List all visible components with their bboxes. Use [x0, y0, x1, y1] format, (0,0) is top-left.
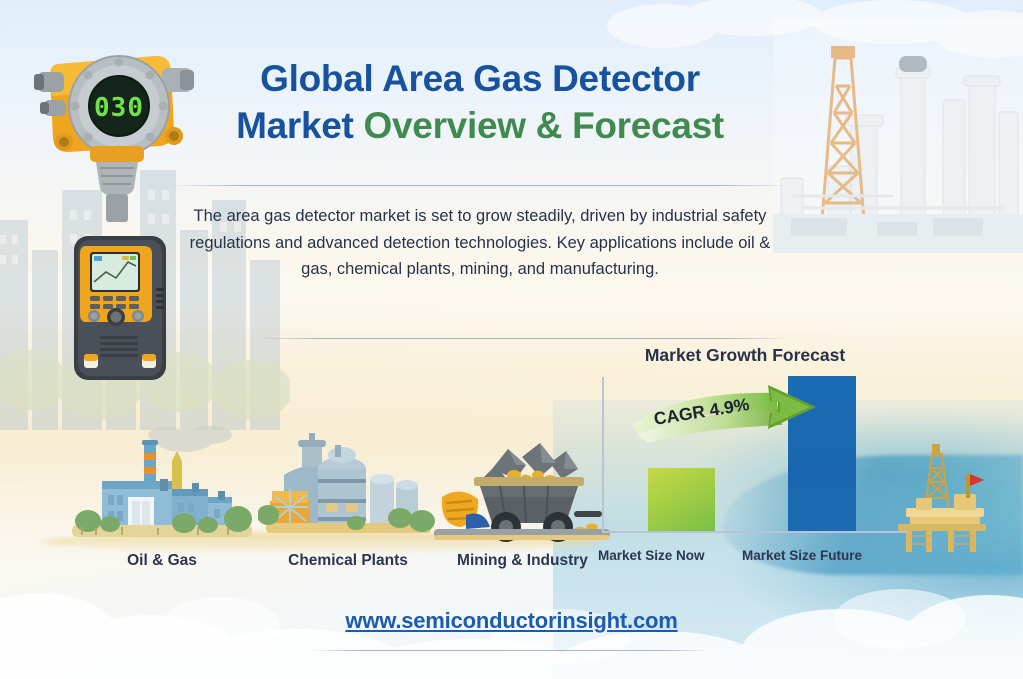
divider-bottom	[255, 338, 790, 339]
detector-display-reading: 030	[94, 93, 144, 123]
footer: www.semiconductorinsight.com	[0, 608, 1023, 634]
fixed-area-gas-detector: 030	[24, 38, 204, 223]
title-block: Global Area Gas Detector Market Overview…	[180, 55, 780, 150]
industry-label: Mining & Industry	[430, 552, 615, 570]
chart-x-axis	[602, 531, 907, 533]
portable-gas-detector	[66, 232, 174, 384]
infographic-canvas: 030	[0, 0, 1023, 679]
chart-title: Market Growth Forecast	[590, 345, 900, 366]
chemical-tanks-icon	[258, 423, 438, 548]
chart-category-label-now: Market Size Now	[598, 548, 705, 563]
mining-cart-icon	[430, 423, 615, 548]
lede-paragraph: The area gas detector market is set to g…	[180, 203, 780, 283]
industry-item-mining: Mining & Industry	[430, 423, 615, 570]
industry-label: Oil & Gas	[62, 552, 262, 570]
power-plant-icon	[62, 423, 262, 548]
page-title-line-1: Global Area Gas Detector	[180, 55, 780, 102]
market-growth-chart: Market Growth Forecast Market Size Now M…	[590, 345, 950, 570]
oil-refinery-illustration	[773, 18, 1023, 253]
divider-footer	[310, 650, 710, 651]
industry-label: Chemical Plants	[258, 552, 438, 570]
cagr-growth-arrow: CAGR 4.9%	[628, 385, 858, 451]
page-title-line-2: Market Overview & Forecast	[180, 102, 780, 149]
website-url-link[interactable]: www.semiconductorinsight.com	[345, 608, 677, 633]
chart-y-axis	[602, 377, 604, 532]
bar-market-size-now	[648, 468, 715, 531]
industry-item-oil-gas: Oil & Gas	[62, 423, 262, 570]
industry-item-chemical-plants: Chemical Plants	[258, 423, 438, 570]
chart-category-label-future: Market Size Future	[742, 548, 862, 563]
divider-top	[170, 185, 790, 186]
page-title-market: Market	[236, 105, 363, 146]
page-title-overview: Overview & Forecast	[364, 105, 724, 146]
industry-row: Oil & Gas	[40, 400, 600, 570]
